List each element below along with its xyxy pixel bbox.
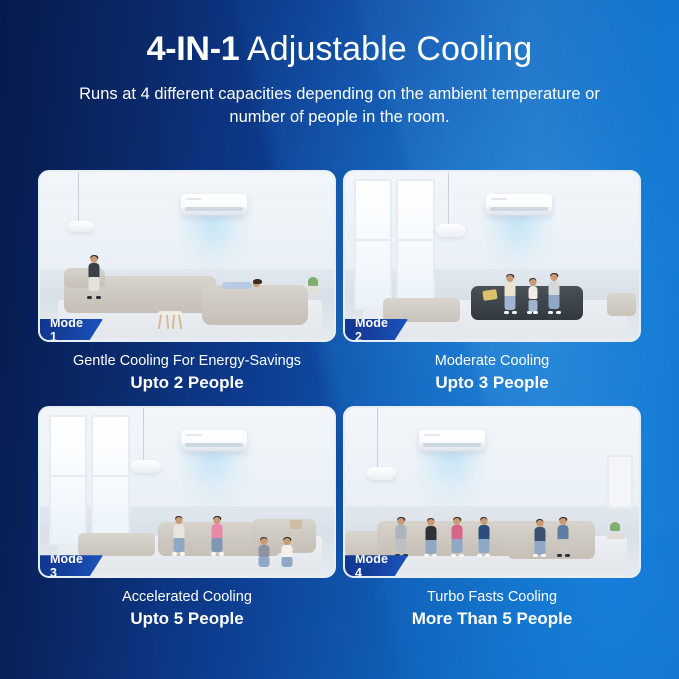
person-3-2 xyxy=(211,517,224,553)
person-2-2 xyxy=(527,279,538,311)
room-scene-2 xyxy=(345,172,639,340)
mode-3-caption-line2: Upto 5 People xyxy=(38,608,336,630)
room-scene-1 xyxy=(40,172,334,340)
person-2-3 xyxy=(548,274,561,311)
four-in-one-cooling-infographic: 4-IN-1 Adjustable Cooling Runs at 4 diff… xyxy=(0,0,679,679)
person-4-1 xyxy=(395,518,408,554)
person-3-4 xyxy=(281,538,293,568)
air-conditioner-unit-2 xyxy=(486,194,552,215)
mode-card-3[interactable]: Mode 3 Accelerated Cooling Upto 5 People xyxy=(38,406,336,630)
person-4-6 xyxy=(557,518,570,554)
person-3-3 xyxy=(258,538,270,568)
mode-1-caption-line1: Gentle Cooling For Energy-Savings xyxy=(38,352,336,370)
person-3-1 xyxy=(172,517,185,553)
mode-2-caption: Moderate Cooling Upto 3 People xyxy=(343,342,641,394)
mode-3-caption: Accelerated Cooling Upto 5 People xyxy=(38,578,336,630)
person-1-2 xyxy=(222,280,268,296)
mode-3-photo: Mode 3 xyxy=(38,406,336,578)
person-2-1 xyxy=(504,275,517,311)
mode-3-caption-line1: Accelerated Cooling xyxy=(38,588,336,606)
mode-1-caption-line2: Upto 2 People xyxy=(38,372,336,394)
person-1-1 xyxy=(87,256,101,296)
mode-4-photo: Mode 4 xyxy=(343,406,641,578)
mode-4-caption-line1: Turbo Fasts Cooling xyxy=(343,588,641,606)
mode-card-1[interactable]: Mode 1 Gentle Cooling For Energy-Savings… xyxy=(38,170,336,394)
mode-2-caption-line1: Moderate Cooling xyxy=(343,352,641,370)
mode-card-2[interactable]: Mode 2 Moderate Cooling Upto 3 People xyxy=(343,170,641,394)
page-title: 4-IN-1 Adjustable Cooling xyxy=(0,30,679,69)
person-4-2 xyxy=(424,519,437,554)
mode-card-4[interactable]: Mode 4 Turbo Fasts Cooling More Than 5 P… xyxy=(343,406,641,630)
mode-4-caption-line2: More Than 5 People xyxy=(343,608,641,630)
person-4-4 xyxy=(477,518,490,554)
person-4-3 xyxy=(451,518,464,554)
air-conditioner-unit-1 xyxy=(181,194,247,215)
page-title-strong: 4-IN-1 xyxy=(147,30,240,68)
page-subtitle: Runs at 4 different capacities depending… xyxy=(60,83,620,129)
mode-1-photo: Mode 1 xyxy=(38,170,336,342)
mode-4-caption: Turbo Fasts Cooling More Than 5 People xyxy=(343,578,641,630)
mode-2-photo: Mode 2 xyxy=(343,170,641,342)
air-conditioner-unit-4 xyxy=(419,430,485,451)
room-scene-3 xyxy=(40,408,334,576)
header: 4-IN-1 Adjustable Cooling Runs at 4 diff… xyxy=(0,0,679,129)
mode-card-grid: Mode 1 Gentle Cooling For Energy-Savings… xyxy=(38,170,641,630)
person-4-5 xyxy=(533,520,546,554)
room-scene-4 xyxy=(345,408,639,576)
mode-1-caption: Gentle Cooling For Energy-Savings Upto 2… xyxy=(38,342,336,394)
page-title-rest: Adjustable Cooling xyxy=(239,30,532,68)
air-conditioner-unit-3 xyxy=(181,430,247,451)
mode-2-caption-line2: Upto 3 People xyxy=(343,372,641,394)
